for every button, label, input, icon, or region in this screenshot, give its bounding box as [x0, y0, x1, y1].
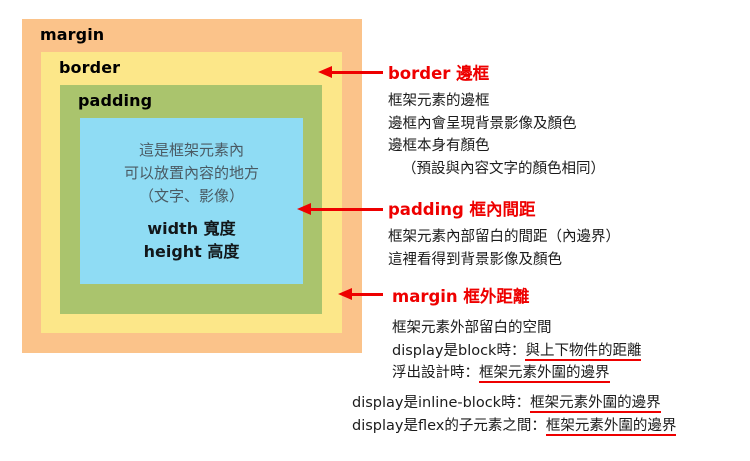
padding-callout-arrow-icon	[310, 208, 383, 211]
content-line-3: （文字、影像）	[139, 185, 244, 208]
padding-layer-label: padding	[78, 91, 152, 110]
annotation-margin-body: 框架元素外部留白的空間 display是block時：與上下物件的距離 浮出設計…	[392, 317, 641, 385]
bottom-note-1-underlined: 框架元素外圍的邊界	[530, 395, 661, 413]
bottom-note-1: display是inline-block時：框架元素外圍的邊界	[352, 392, 676, 415]
border-callout-arrow-icon	[331, 71, 383, 74]
annotation-border-body: 框架元素的邊框 邊框內會呈現背景影像及顏色 邊框本身有顏色 （預設與內容文字的顏…	[388, 90, 605, 180]
annotation-padding-line-1: 框架元素內部留白的間距（內邊界）	[388, 226, 620, 249]
annotation-margin-line-1: 框架元素外部留白的空間	[392, 317, 641, 340]
content-line-2: 可以放置內容的地方	[124, 162, 259, 185]
margin-layer-label: margin	[40, 25, 104, 44]
bottom-notes: display是inline-block時：框架元素外圍的邊界 display是…	[352, 392, 676, 439]
annotation-padding-title: padding 框內間距	[388, 196, 620, 220]
bottom-note-2-prefix: display是flex的子元素之間：	[352, 418, 546, 434]
annotation-margin-line-2: display是block時：與上下物件的距離	[392, 340, 641, 363]
margin-callout-arrow-icon	[351, 293, 383, 296]
diagram-canvas: margin border padding 這是框架元素內 可以放置內容的地方 …	[0, 0, 750, 461]
box-model-padding-layer: padding 這是框架元素內 可以放置內容的地方 （文字、影像） width …	[60, 85, 322, 314]
annotation-padding: padding 框內間距 框架元素內部留白的間距（內邊界） 這裡看得到背景影像及…	[388, 196, 620, 271]
annotation-border: border 邊框 框架元素的邊框 邊框內會呈現背景影像及顏色 邊框本身有顏色 …	[388, 60, 605, 180]
annotation-padding-body: 框架元素內部留白的間距（內邊界） 這裡看得到背景影像及顏色	[388, 226, 620, 271]
content-line-1: 這是框架元素內	[139, 139, 244, 162]
box-model-margin-layer: margin border padding 這是框架元素內 可以放置內容的地方 …	[22, 19, 362, 353]
box-model-content-layer: 這是框架元素內 可以放置內容的地方 （文字、影像） width 寬度 heigh…	[80, 118, 303, 284]
annotation-border-line-1: 框架元素的邊框	[388, 90, 605, 113]
annotation-margin-line-3-prefix: 浮出設計時：	[392, 365, 479, 381]
annotation-margin-line-3-underlined: 框架元素外圍的邊界	[479, 365, 610, 383]
box-model-border-layer: border padding 這是框架元素內 可以放置內容的地方 （文字、影像）…	[41, 52, 342, 333]
bottom-note-1-prefix: display是inline-block時：	[352, 395, 530, 411]
annotation-margin-line-2-underlined: 與上下物件的距離	[525, 343, 641, 361]
annotation-border-line-3: 邊框本身有顏色	[388, 135, 605, 158]
content-height-label: height 高度	[144, 240, 240, 263]
annotation-margin-line-3: 浮出設計時：框架元素外圍的邊界	[392, 362, 641, 385]
annotation-border-line-4: （預設與內容文字的顏色相同）	[388, 158, 605, 181]
annotation-margin-title: margin 框外距離	[392, 283, 641, 307]
bottom-note-2-underlined: 框架元素外圍的邊界	[546, 418, 677, 436]
annotation-border-line-2: 邊框內會呈現背景影像及顏色	[388, 113, 605, 136]
annotation-padding-line-2: 這裡看得到背景影像及顏色	[388, 249, 620, 272]
bottom-note-2: display是flex的子元素之間：框架元素外圍的邊界	[352, 415, 676, 438]
annotation-margin: margin 框外距離 框架元素外部留白的空間 display是block時：與…	[392, 283, 641, 385]
content-width-label: width 寬度	[147, 217, 235, 240]
border-layer-label: border	[59, 58, 120, 77]
annotation-margin-line-2-prefix: display是block時：	[392, 343, 525, 359]
annotation-border-title: border 邊框	[388, 60, 605, 84]
